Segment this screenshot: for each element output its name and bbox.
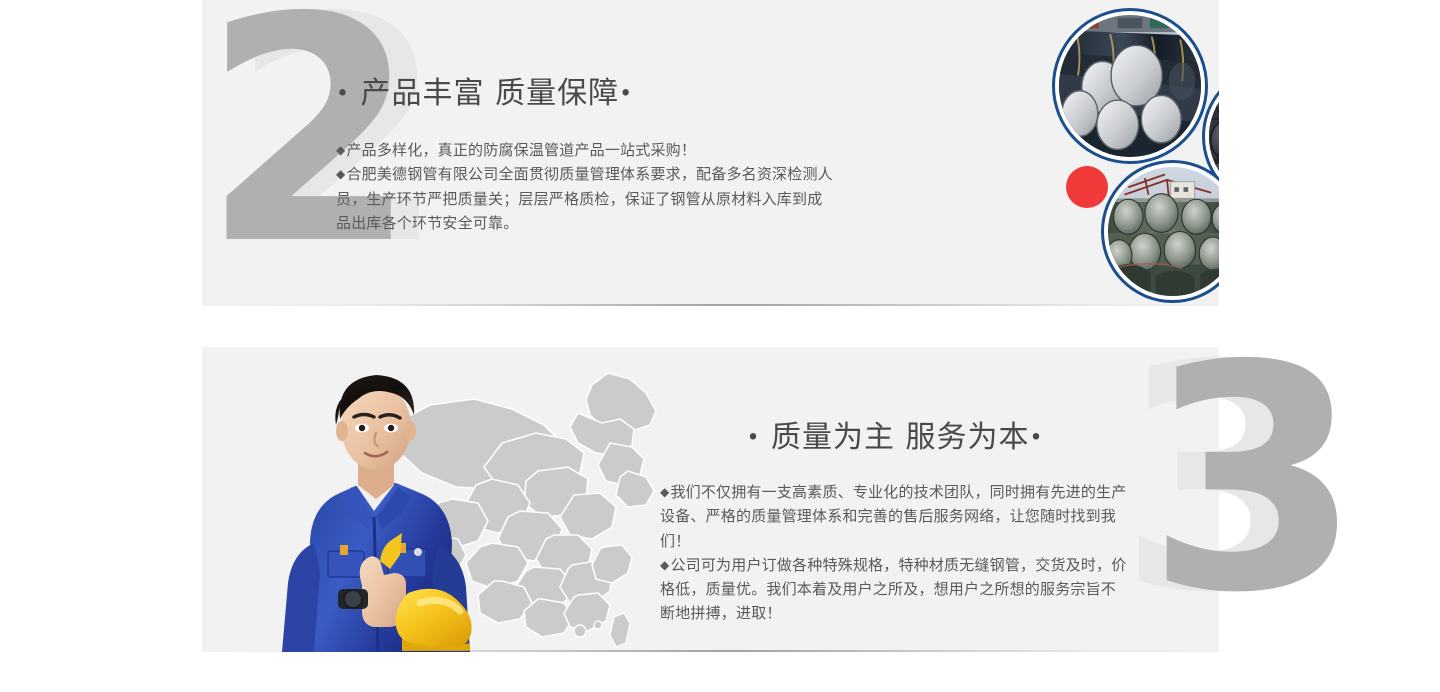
- photo-coated-steel-pipes-stack: [1052, 8, 1208, 164]
- photo-spiral-welded-pipes-yard: [1101, 160, 1219, 303]
- headline-text: 质量为主 服务为本: [771, 420, 1030, 455]
- body-paragraph: ◆我们不仅拥有一支高素质、专业化的技术团队，同时拥有先进的生产设备、严格的质量管…: [660, 480, 1130, 553]
- body-paragraph: ◆产品多样化，真正的防腐保温管道产品一站式采购！: [336, 138, 836, 162]
- body-text: 产品多样化，真正的防腐保温管道产品一站式采购！: [346, 141, 696, 159]
- feature-text-section-3: • 质量为主 服务为本• ◆我们不仅拥有一支高素质、专业化的技术团队，同时拥有先…: [660, 412, 1130, 626]
- diamond-bullet-icon: ◆: [336, 167, 345, 181]
- headline-section-3: • 质量为主 服务为本•: [660, 412, 1130, 456]
- body-text: 公司可为用户订做各种特殊规格，特种材质无缝钢管，交货及时，价格低，质量优。我们本…: [660, 556, 1126, 623]
- coated-steel-pipes-illustration: [1059, 15, 1201, 157]
- photo-inner: [1059, 15, 1201, 157]
- headline-text: 产品丰富 质量保障: [361, 76, 620, 111]
- feature-text-section-2: • 产品丰富 质量保障• ◆产品多样化，真正的防腐保温管道产品一站式采购！ ◆合…: [336, 68, 836, 235]
- body-paragraph: ◆公司可为用户订做各种特殊规格，特种材质无缝钢管，交货及时，价格低，质量优。我们…: [660, 553, 1130, 626]
- body-text: 我们不仅拥有一支高素质、专业化的技术团队，同时拥有先进的生产设备、严格的质量管理…: [660, 483, 1126, 550]
- photo-collage-section-2: [1040, 0, 1219, 306]
- worker-and-map-scene: [202, 347, 682, 652]
- photo-inner: [1108, 167, 1219, 296]
- worker-thumbs-up-illustration: [252, 353, 502, 652]
- headline-section-2: • 产品丰富 质量保障•: [336, 68, 836, 112]
- headline-leading-dot: •: [746, 425, 760, 450]
- diamond-bullet-icon: ◆: [336, 143, 345, 157]
- red-dot: [1066, 166, 1108, 208]
- headline-trailing-dot: •: [619, 81, 633, 106]
- headline-leading-dot: •: [336, 81, 350, 106]
- page-stage: 2 2 • 产品丰富 质量保障• ◆产品多样化，真正的防腐保温管道产品一站式采购…: [0, 0, 1440, 692]
- diamond-bullet-icon: ◆: [660, 485, 669, 499]
- spiral-welded-pipes-illustration: [1108, 167, 1219, 296]
- diamond-bullet-icon: ◆: [660, 558, 669, 572]
- body-paragraph: ◆合肥美德钢管有限公司全面贯彻质量管理体系要求，配备多名资深检测人员，生产环节严…: [336, 162, 836, 235]
- body-text: 合肥美德钢管有限公司全面贯彻质量管理体系要求，配备多名资深检测人员，生产环节严把…: [336, 165, 833, 232]
- headline-trailing-dot: •: [1030, 425, 1044, 450]
